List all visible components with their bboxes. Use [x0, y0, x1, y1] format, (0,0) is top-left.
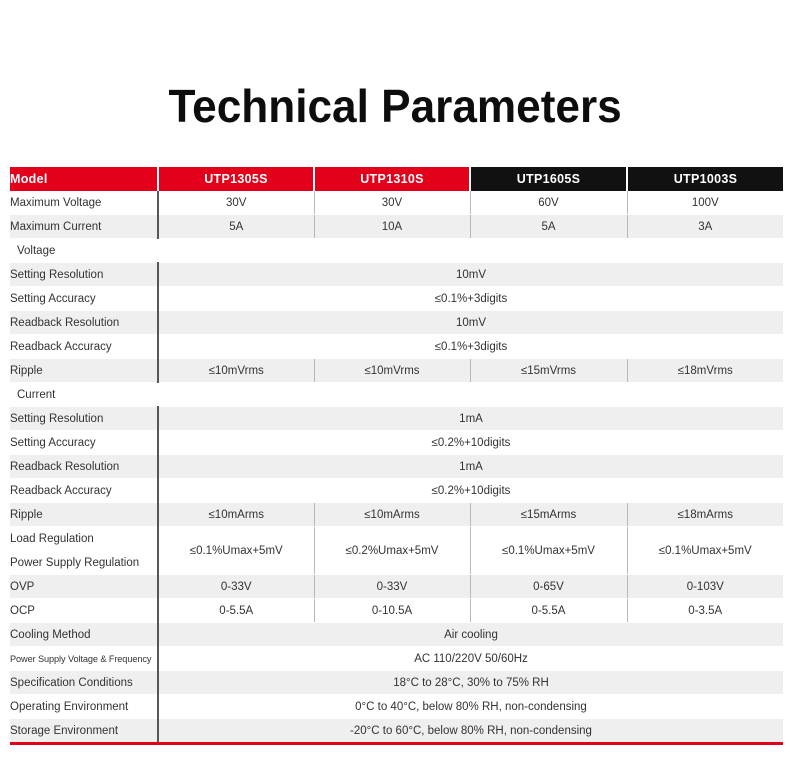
row-value-ripple-col1: ≤10mArms: [158, 503, 314, 527]
spec-table-container: Model UTP1305S UTP1310S UTP1605S UTP1003…: [10, 167, 783, 745]
row-value-maximum-current-col2: 10A: [314, 215, 470, 239]
row-value-ovp-col3: 0-65V: [470, 575, 627, 599]
page-root: Technical Parameters Model UTP1305S UTP1…: [0, 0, 790, 760]
row-value-regulation-col4: ≤0.1%Umax+5mV: [627, 527, 783, 575]
row-label-power-supply-voltage-and-frequency: Power Supply Voltage & Frequency: [10, 647, 158, 671]
table-row: Operating Environment0°C to 40°C, below …: [10, 695, 783, 719]
row-label-specification-conditions: Specification Conditions: [10, 671, 158, 695]
row-value-ripple-col3: ≤15mVrms: [470, 359, 627, 383]
row-value-ovp-col2: 0-33V: [314, 575, 470, 599]
row-value-maximum-voltage-col1: 30V: [158, 191, 314, 215]
table-row: Maximum Current5A10A5A3A: [10, 215, 783, 239]
row-value-ocp-col3: 0-5.5A: [470, 599, 627, 623]
table-row: Readback Resolution1mA: [10, 455, 783, 479]
section-row-current: Current: [10, 383, 783, 407]
row-label-setting-accuracy: Setting Accuracy: [10, 287, 158, 311]
row-label-setting-accuracy: Setting Accuracy: [10, 431, 158, 455]
row-value-readback-accuracy: ≤0.2%+10digits: [158, 479, 783, 503]
row-label-ripple: Ripple: [10, 503, 158, 527]
row-value-maximum-voltage-col4: 100V: [627, 191, 783, 215]
row-value-specification-conditions: 18°C to 28°C, 30% to 75% RH: [158, 671, 783, 695]
row-value-maximum-current-col1: 5A: [158, 215, 314, 239]
table-row: OVP0-33V0-33V0-65V0-103V: [10, 575, 783, 599]
table-row: Specification Conditions18°C to 28°C, 30…: [10, 671, 783, 695]
row-value-ripple-col4: ≤18mVrms: [627, 359, 783, 383]
row-label-readback-resolution: Readback Resolution: [10, 455, 158, 479]
row-value-regulation-col2: ≤0.2%Umax+5mV: [314, 527, 470, 575]
table-row: Setting Accuracy≤0.2%+10digits: [10, 431, 783, 455]
row-value-ovp-col4: 0-103V: [627, 575, 783, 599]
row-value-setting-resolution: 10mV: [158, 263, 783, 287]
table-body: Maximum Voltage30V30V60V100VMaximum Curr…: [10, 191, 783, 744]
row-label-readback-accuracy: Readback Accuracy: [10, 479, 158, 503]
row-label-ripple: Ripple: [10, 359, 158, 383]
row-label-setting-resolution: Setting Resolution: [10, 407, 158, 431]
table-row: Cooling MethodAir cooling: [10, 623, 783, 647]
row-value-ripple-col3: ≤15mArms: [470, 503, 627, 527]
row-label-load-regulation: Load Regulation: [10, 527, 158, 551]
row-label-power-supply-regulation: Power Supply Regulation: [10, 551, 158, 575]
table-header-row: Model UTP1305S UTP1310S UTP1605S UTP1003…: [10, 167, 783, 191]
row-label-maximum-current: Maximum Current: [10, 215, 158, 239]
row-value-regulation-col1: ≤0.1%Umax+5mV: [158, 527, 314, 575]
row-label-cooling-method: Cooling Method: [10, 623, 158, 647]
column-header-model: Model: [10, 167, 158, 191]
row-value-storage-environment: -20°C to 60°C, below 80% RH, non-condens…: [158, 719, 783, 744]
table-row: Load Regulation≤0.1%Umax+5mV≤0.2%Umax+5m…: [10, 527, 783, 551]
table-row: Readback Resolution10mV: [10, 311, 783, 335]
technical-parameters-table: Model UTP1305S UTP1310S UTP1605S UTP1003…: [10, 167, 783, 745]
row-label-ocp: OCP: [10, 599, 158, 623]
row-value-readback-accuracy: ≤0.1%+3digits: [158, 335, 783, 359]
table-row: Ripple≤10mArms≤10mArms≤15mArms≤18mArms: [10, 503, 783, 527]
row-label-setting-resolution: Setting Resolution: [10, 263, 158, 287]
row-value-setting-accuracy: ≤0.2%+10digits: [158, 431, 783, 455]
row-value-operating-environment: 0°C to 40°C, below 80% RH, non-condensin…: [158, 695, 783, 719]
row-value-regulation-col3: ≤0.1%Umax+5mV: [470, 527, 627, 575]
row-value-maximum-voltage-col3: 60V: [470, 191, 627, 215]
row-value-ripple-col2: ≤10mVrms: [314, 359, 470, 383]
row-value-setting-accuracy: ≤0.1%+3digits: [158, 287, 783, 311]
row-label-storage-environment: Storage Environment: [10, 719, 158, 744]
row-value-maximum-current-col3: 5A: [470, 215, 627, 239]
section-row-voltage: Voltage: [10, 239, 783, 263]
title-container: Technical Parameters: [0, 52, 790, 160]
column-header-utp1003s: UTP1003S: [627, 167, 783, 191]
column-header-utp1605s: UTP1605S: [470, 167, 627, 191]
row-value-ocp-col2: 0-10.5A: [314, 599, 470, 623]
row-value-readback-resolution: 1mA: [158, 455, 783, 479]
row-value-cooling-method: Air cooling: [158, 623, 783, 647]
row-label-maximum-voltage: Maximum Voltage: [10, 191, 158, 215]
row-value-ocp-col4: 0-3.5A: [627, 599, 783, 623]
row-label-ovp: OVP: [10, 575, 158, 599]
row-value-ovp-col1: 0-33V: [158, 575, 314, 599]
table-row: Readback Accuracy≤0.2%+10digits: [10, 479, 783, 503]
row-value-power-supply-voltage-and-frequency: AC 110/220V 50/60Hz: [158, 647, 783, 671]
row-value-setting-resolution: 1mA: [158, 407, 783, 431]
section-label-current: Current: [10, 383, 783, 407]
row-value-maximum-current-col4: 3A: [627, 215, 783, 239]
row-label-readback-accuracy: Readback Accuracy: [10, 335, 158, 359]
table-row: Setting Accuracy≤0.1%+3digits: [10, 287, 783, 311]
row-value-maximum-voltage-col2: 30V: [314, 191, 470, 215]
page-title: Technical Parameters: [168, 83, 621, 129]
table-row: OCP0-5.5A0-10.5A0-5.5A0-3.5A: [10, 599, 783, 623]
column-header-utp1305s: UTP1305S: [158, 167, 314, 191]
table-row: Readback Accuracy≤0.1%+3digits: [10, 335, 783, 359]
row-value-ocp-col1: 0-5.5A: [158, 599, 314, 623]
row-value-readback-resolution: 10mV: [158, 311, 783, 335]
section-label-voltage: Voltage: [10, 239, 783, 263]
column-header-utp1310s: UTP1310S: [314, 167, 470, 191]
table-row: Storage Environment-20°C to 60°C, below …: [10, 719, 783, 744]
table-row: Power Supply Voltage & FrequencyAC 110/2…: [10, 647, 783, 671]
row-label-operating-environment: Operating Environment: [10, 695, 158, 719]
row-label-readback-resolution: Readback Resolution: [10, 311, 158, 335]
table-header: Model UTP1305S UTP1310S UTP1605S UTP1003…: [10, 167, 783, 191]
row-value-ripple-col1: ≤10mVrms: [158, 359, 314, 383]
table-row: Setting Resolution10mV: [10, 263, 783, 287]
table-row: Setting Resolution1mA: [10, 407, 783, 431]
row-value-ripple-col4: ≤18mArms: [627, 503, 783, 527]
row-value-ripple-col2: ≤10mArms: [314, 503, 470, 527]
table-row: Maximum Voltage30V30V60V100V: [10, 191, 783, 215]
table-row: Ripple≤10mVrms≤10mVrms≤15mVrms≤18mVrms: [10, 359, 783, 383]
